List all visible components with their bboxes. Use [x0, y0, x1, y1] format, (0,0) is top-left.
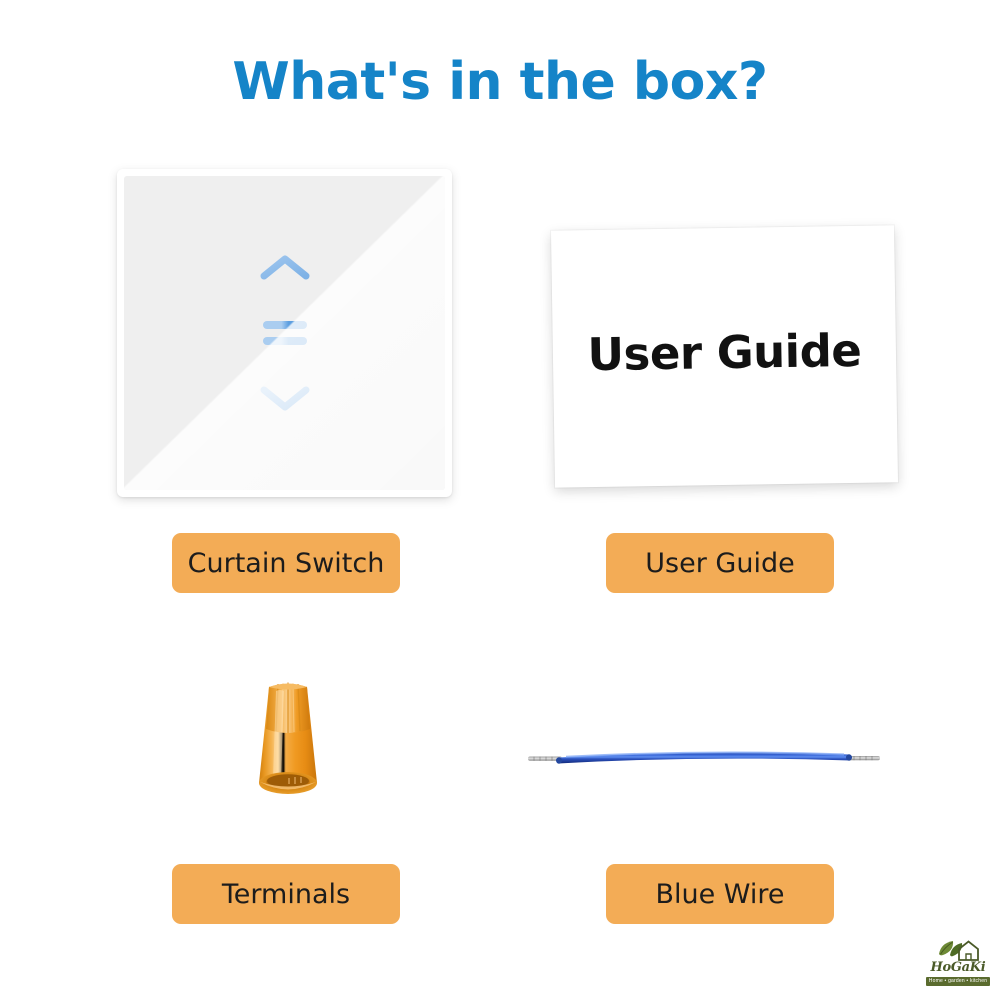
brand-name: HoGaKi: [925, 960, 991, 975]
label-user-guide: User Guide: [606, 533, 834, 593]
label-terminals: Terminals: [172, 864, 400, 924]
user-guide-image: User Guide: [551, 225, 898, 487]
brand-tagline: Home • garden • kitchen: [926, 977, 990, 986]
label-text: Curtain Switch: [188, 548, 385, 579]
label-text: User Guide: [645, 548, 794, 579]
booklet-cover: User Guide: [551, 225, 898, 487]
label-text: Blue Wire: [655, 879, 784, 910]
switch-bezel: [117, 169, 452, 497]
brand-logo: HoGaKi Home • garden • kitchen: [925, 938, 991, 990]
glass-reflection: [124, 176, 445, 490]
label-curtain-switch: Curtain Switch: [172, 533, 400, 593]
switch-glass-face: [124, 176, 445, 490]
terminal-wire-nut-image: [247, 671, 329, 801]
label-text: Terminals: [222, 879, 350, 910]
blue-wire-image: [528, 745, 880, 775]
page-title: What's in the box?: [0, 52, 1000, 112]
label-blue-wire: Blue Wire: [606, 864, 834, 924]
booklet-cover-title: User Guide: [587, 324, 862, 381]
curtain-switch-image: [117, 169, 452, 497]
